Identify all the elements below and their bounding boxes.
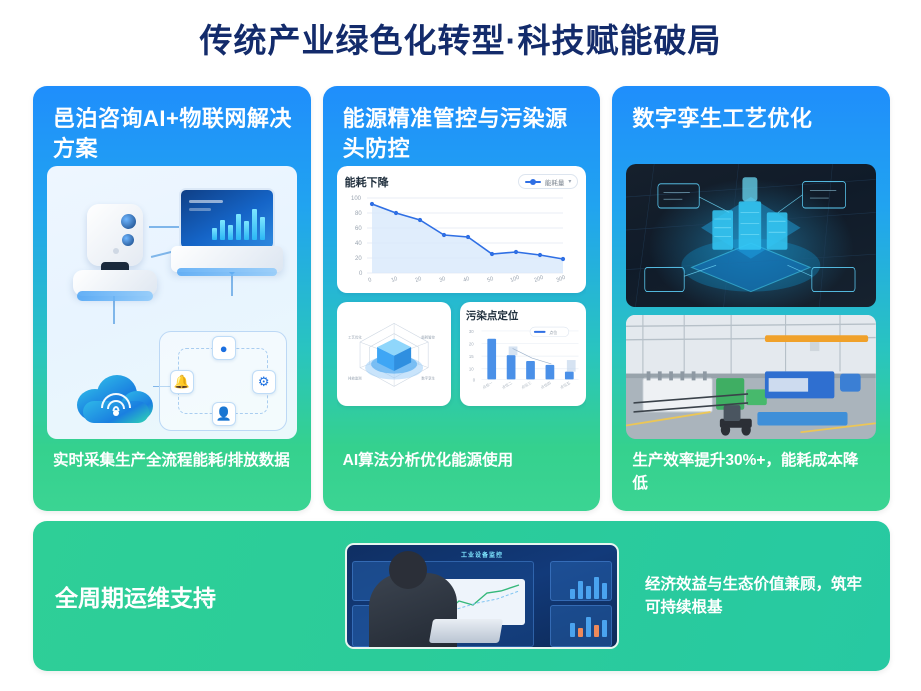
gear-icon: ⚙ — [252, 370, 276, 394]
svg-text:10: 10 — [390, 276, 398, 284]
factory-photo — [626, 315, 876, 439]
radar-chart-panel: 工艺优化 能耗管控 排放监测 数字孪生 — [337, 302, 451, 406]
screen-line — [189, 208, 211, 211]
digital-twin-image — [626, 164, 876, 307]
card-footer-text: 实时采集生产全流程能耗/排放数据 — [47, 449, 297, 511]
bar-chart-title: 污染点定位 — [466, 308, 580, 323]
camera-indicator-icon — [113, 248, 119, 254]
svg-text:能耗管控: 能耗管控 — [421, 335, 435, 340]
factory-graphic — [626, 315, 876, 439]
camera-lens-icon — [122, 234, 134, 246]
card-media-illustration: ● 🔔 ⚙ 👤 — [47, 166, 297, 439]
radar-chart-svg: 工艺优化 能耗管控 排放监测 数字孪生 — [343, 308, 445, 400]
screen-bars — [212, 206, 265, 240]
banner-footer-text: 经济效益与生态价值兼顾，筑牢可持续根基 — [619, 573, 868, 619]
card-footer-text: AI算法分析优化能源使用 — [337, 449, 587, 511]
line-chart-svg: 100 80 60 40 20 0 — [345, 192, 567, 284]
laptop-screen — [179, 188, 275, 250]
svg-text:点位: 点位 — [549, 330, 557, 335]
bar-chart-panel: 污染点定位 30 — [460, 302, 586, 406]
card-media-charts: 能耗下降 能耗量 ▾ — [337, 166, 587, 439]
dashboard-title: 工业设备监控 — [461, 550, 503, 559]
svg-text:20: 20 — [414, 276, 422, 284]
svg-text:60: 60 — [355, 226, 362, 232]
svg-text:点位四: 点位四 — [540, 380, 552, 390]
monitoring-dashboard-image: 工业设备监控 — [345, 543, 619, 649]
chevron-down-icon: ▾ — [568, 178, 571, 185]
legend-marker-icon — [525, 181, 541, 183]
svg-text:点位一: 点位一 — [481, 380, 493, 390]
cards-row: 邑泊咨询AI+物联网解决方案 — [33, 86, 890, 511]
operator-laptop — [429, 619, 503, 643]
lifecycle-support-banner[interactable]: 全周期运维支持 工业设备监控 经济效益与生态价值兼顾，筑 — [33, 521, 890, 671]
svg-text:40: 40 — [355, 241, 362, 247]
svg-text:工艺优化: 工艺优化 — [348, 335, 362, 340]
wifi-icon — [99, 393, 133, 415]
operator-head — [389, 551, 427, 589]
svg-text:0: 0 — [367, 277, 372, 284]
card-footer-text: 生产效率提升30%+，能耗成本降低 — [626, 449, 876, 511]
line-chart-legend[interactable]: 能耗量 ▾ — [518, 174, 579, 189]
svg-text:30: 30 — [469, 329, 474, 334]
svg-text:20: 20 — [355, 256, 362, 262]
svg-text:50: 50 — [486, 276, 494, 284]
svg-text:30: 30 — [438, 276, 446, 284]
card-title: 邑泊咨询AI+物联网解决方案 — [47, 100, 297, 164]
card-title: 数字孪生工艺优化 — [626, 100, 876, 162]
svg-text:排放监测: 排放监测 — [348, 376, 362, 381]
svg-text:数字孪生: 数字孪生 — [421, 376, 435, 381]
card-iot-solution[interactable]: 邑泊咨询AI+物联网解决方案 — [33, 86, 311, 511]
camera-icon — [87, 204, 143, 266]
card-media-images — [626, 164, 876, 439]
svg-text:0: 0 — [473, 377, 476, 382]
camera-base — [73, 270, 157, 296]
laptop-base — [171, 246, 283, 272]
icon-grid-panel: ● 🔔 ⚙ 👤 — [159, 331, 287, 431]
svg-text:10: 10 — [469, 367, 474, 372]
page-title-bar: 传统产业绿色化转型·科技赋能破局 — [0, 18, 921, 64]
screen-line — [189, 200, 223, 203]
card-digital-twin[interactable]: 数字孪生工艺优化 — [612, 86, 890, 511]
user-icon: 👤 — [212, 402, 236, 426]
legend-label: 能耗量 — [545, 177, 565, 187]
dashboard-bars — [570, 613, 607, 637]
digital-twin-graphic — [626, 164, 876, 307]
line-chart-panel: 能耗下降 能耗量 ▾ — [337, 166, 587, 293]
svg-text:100: 100 — [509, 275, 520, 284]
card-energy-control[interactable]: 能源精准管控与污染源头防控 能耗下降 能耗量 ▾ — [323, 86, 601, 511]
cloud-wifi-icon — [77, 373, 153, 423]
svg-text:80: 80 — [355, 211, 362, 217]
svg-text:点位三: 点位三 — [520, 380, 532, 390]
bar-chart-svg: 30 20 15 10 0 — [466, 324, 580, 398]
svg-text:15: 15 — [469, 354, 474, 359]
page-title: 传统产业绿色化转型·科技赋能破局 — [0, 18, 921, 64]
svg-text:0: 0 — [359, 271, 363, 277]
svg-text:20: 20 — [469, 341, 474, 346]
location-pin-icon: ● — [212, 336, 236, 360]
svg-text:点位二: 点位二 — [501, 380, 513, 390]
line-chart-header: 能耗下降 能耗量 ▾ — [345, 174, 579, 190]
iot-illustration: ● 🔔 ⚙ 👤 — [47, 166, 297, 439]
card-title: 能源精准管控与污染源头防控 — [337, 100, 587, 164]
svg-text:200: 200 — [533, 275, 544, 284]
bar-chart-legend: 点位 — [530, 327, 569, 337]
camera-lens-icon — [121, 214, 136, 229]
slide-root: 传统产业绿色化转型·科技赋能破局 邑泊咨询AI+物联网解决方案 — [0, 0, 921, 691]
svg-text:300: 300 — [555, 275, 566, 284]
svg-text:点位五: 点位五 — [559, 380, 571, 390]
bell-icon: 🔔 — [170, 370, 194, 394]
line-chart-plot: 100 80 60 40 20 0 — [345, 192, 579, 284]
line-chart-title: 能耗下降 — [345, 174, 389, 190]
charts-row: 工艺优化 能耗管控 排放监测 数字孪生 污染点定位 — [337, 302, 587, 406]
banner-title: 全周期运维支持 — [55, 579, 345, 613]
svg-text:40: 40 — [462, 276, 470, 284]
laptop-chart-icon — [171, 188, 283, 274]
svg-text:100: 100 — [351, 196, 362, 202]
dashboard-bars — [570, 575, 607, 599]
